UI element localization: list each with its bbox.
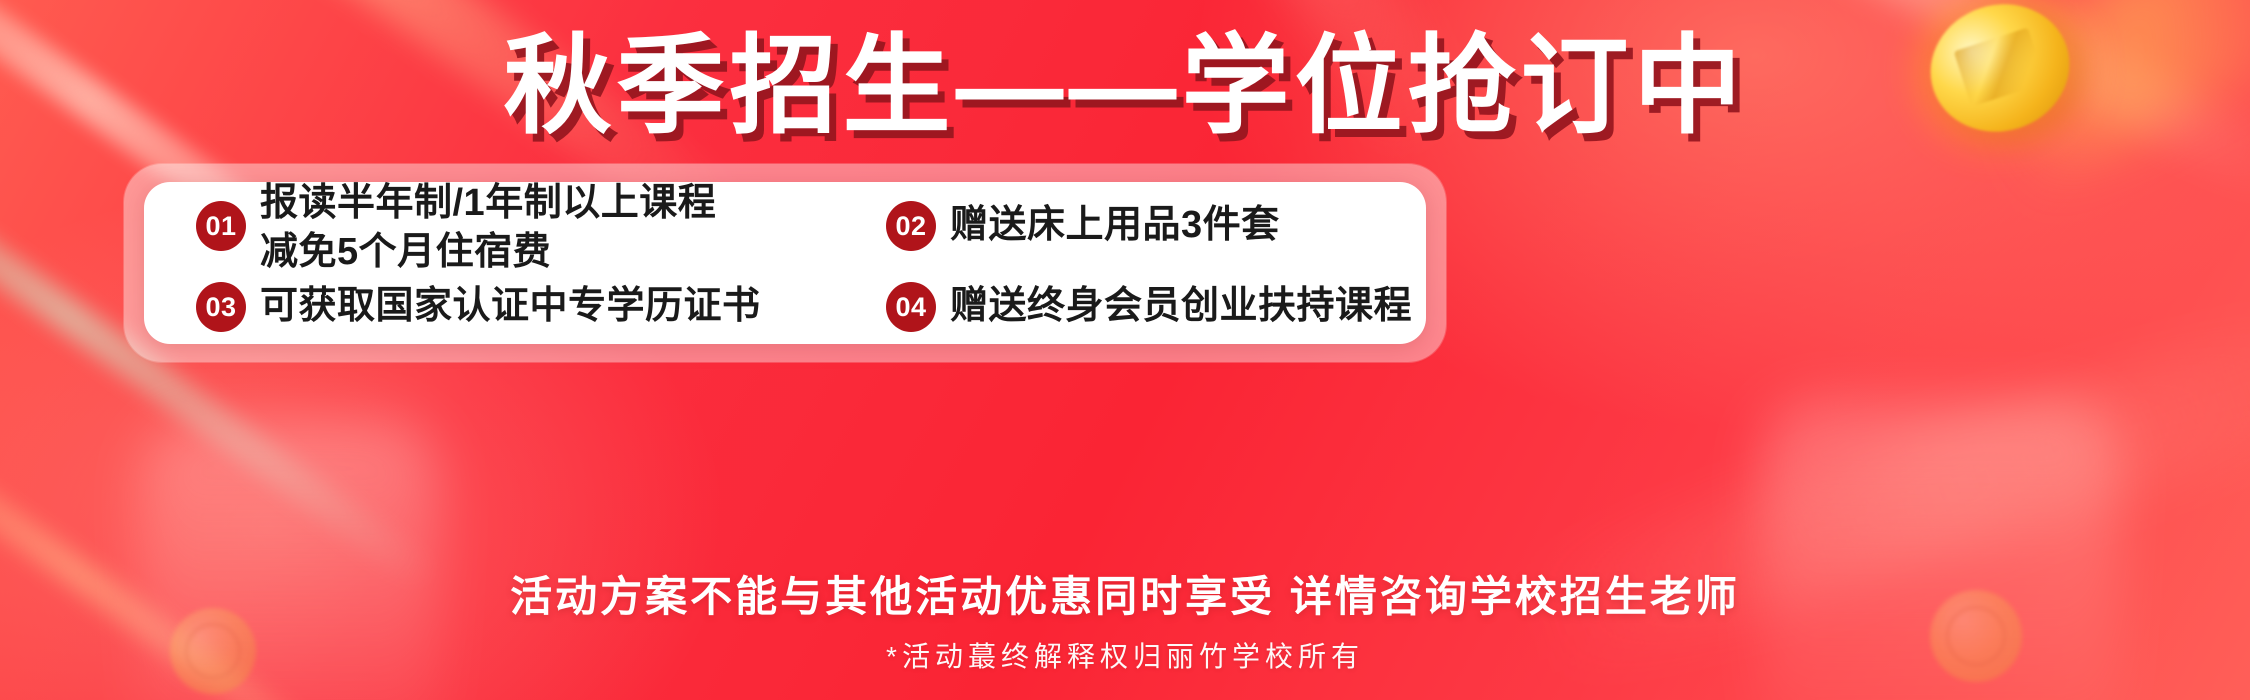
list-item-line: 报读半年制/1年制以上课程	[260, 179, 716, 228]
list-item-text: 赠送床上用品3件套	[950, 202, 1280, 250]
promo-banner: 秋季招生——学位抢订中 01 报读半年制/1年制以上课程 减免5个月住宿费 02…	[0, 0, 2250, 700]
status-badge: 03	[196, 282, 246, 332]
footer-disclaimer: *活动蕞终解释权归丽竹学校所有	[0, 635, 2250, 675]
light-streak-icon	[1503, 294, 2250, 686]
page-title: 秋季招生——学位抢订中	[0, 26, 2250, 147]
status-badge: 04	[886, 282, 936, 332]
status-badge: 02	[886, 201, 936, 251]
list-item: 04 赠送终身会员创业扶持课程	[886, 282, 1478, 332]
list-item-text: 赠送终身会员创业扶持课程	[950, 283, 1412, 331]
info-card: 01 报读半年制/1年制以上课程 减免5个月住宿费 02 赠送床上用品3件套 0…	[144, 182, 1426, 344]
list-item: 01 报读半年制/1年制以上课程 减免5个月住宿费	[196, 177, 886, 276]
list-item: 03 可获取国家认证中专学历证书	[196, 282, 886, 332]
list-item: 02 赠送床上用品3件套	[886, 201, 1478, 251]
list-item-line: 减免5个月住宿费	[260, 228, 716, 277]
footer-note: 活动方案不能与其他活动优惠同时享受 详情咨询学校招生老师	[0, 563, 2250, 624]
list-item-text: 可获取国家认证中专学历证书	[260, 283, 761, 331]
list-item-text: 报读半年制/1年制以上课程 减免5个月住宿费	[260, 179, 716, 278]
status-badge: 01	[196, 201, 246, 251]
